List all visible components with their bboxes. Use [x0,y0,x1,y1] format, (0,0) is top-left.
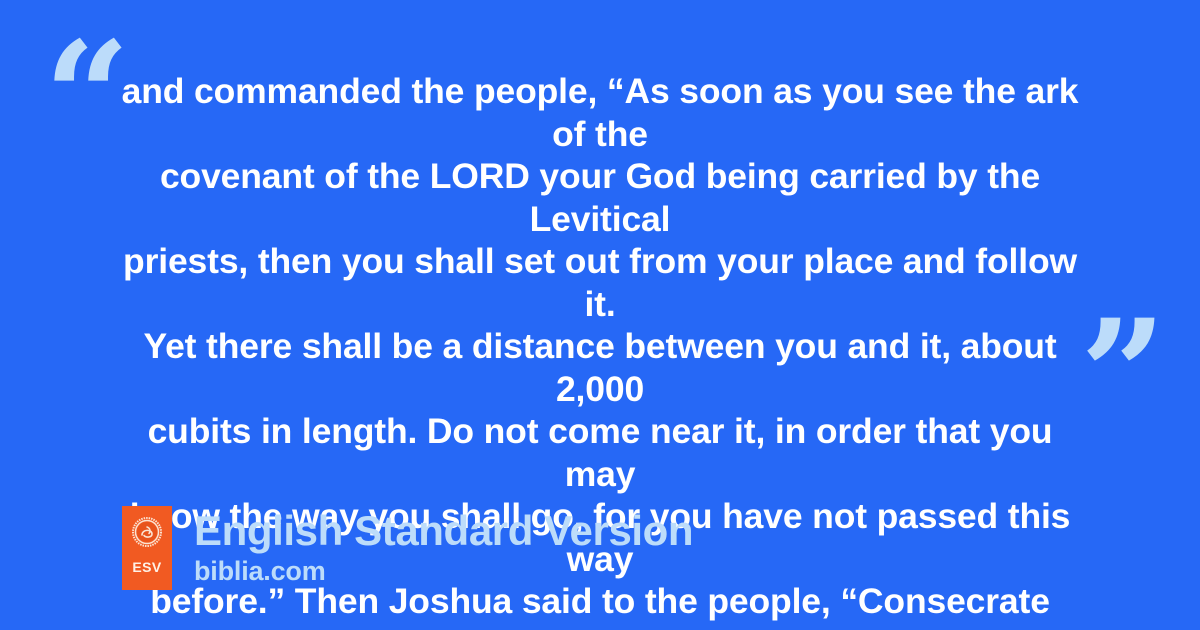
verse-line: Yet there shall be a distance between yo… [110,325,1090,410]
verse-line: priests, then you shall set out from you… [110,240,1090,325]
esv-logo: ESV [122,506,172,590]
branding-text: English Standard Version biblia.com [194,508,693,586]
verse-line: and commanded the people, “As soon as yo… [110,70,1090,155]
branding-footer: ESV English Standard Version biblia.com [122,506,693,590]
close-quote-icon: ” [1080,300,1166,450]
site-url: biblia.com [194,556,693,586]
verse-line: covenant of the LORD your God being carr… [110,155,1090,240]
esv-seal-icon [132,517,162,547]
verse-line: cubits in length. Do not come near it, i… [110,410,1090,495]
verse-card: “ and commanded the people, “As soon as … [0,0,1200,630]
verse-line: yourselves, for tomorrow the LORD will d… [110,623,1090,630]
translation-title: English Standard Version [194,508,693,554]
esv-logo-label: ESV [132,560,161,574]
